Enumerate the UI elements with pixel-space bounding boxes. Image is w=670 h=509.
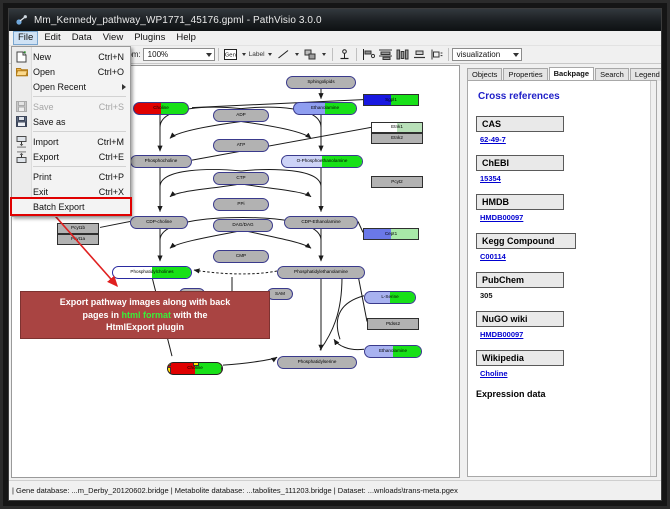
menu-data[interactable]: Data xyxy=(67,31,97,45)
xref-label-kegg: Kegg Compound xyxy=(476,233,576,249)
chevron-down-icon xyxy=(513,53,519,57)
callout-line-1: Export pathway images along with back xyxy=(60,296,231,309)
menu-view[interactable]: View xyxy=(98,31,128,45)
gene-pcyt2[interactable]: Pcyt2 xyxy=(371,176,423,188)
file-menu-dropdown[interactable]: New Ctrl+N Open Ctrl+O Open Recent Save xyxy=(11,46,131,217)
order-icon[interactable] xyxy=(429,47,444,62)
callout-line-2a: pages in xyxy=(82,310,121,320)
node-phosphocholine[interactable]: Phosphocholine xyxy=(130,155,192,168)
node-l-serine[interactable]: L-Serine xyxy=(364,291,416,304)
menu-item-import[interactable]: Import Ctrl+M xyxy=(12,134,130,149)
xref-value-chebi[interactable]: 15354 xyxy=(480,174,648,183)
menu-item-import-accel: Ctrl+M xyxy=(97,137,130,147)
gene-etnk2[interactable]: Etnk2 xyxy=(371,133,423,144)
menu-item-import-label: Import xyxy=(33,137,97,147)
node-o-phosphoethanolamine[interactable]: O-Phosphoethanolamine xyxy=(281,155,363,168)
status-text: | Gene database: ...m_Derby_20120602.bri… xyxy=(12,486,458,495)
screenshot-root: Mm_Kennedy_pathway_WP1771_45176.gpml - P… xyxy=(0,0,670,509)
folder-icon xyxy=(15,65,28,78)
xref-value-pubchem: 305 xyxy=(480,291,648,300)
svg-text:Gen: Gen xyxy=(225,53,237,59)
anchor-tool-button[interactable] xyxy=(337,47,352,62)
xref-label-wikipedia: Wikipedia xyxy=(476,350,564,366)
status-bar: | Gene database: ...m_Derby_20120602.bri… xyxy=(9,480,661,500)
menu-item-save: Save Ctrl+S xyxy=(12,99,130,114)
menu-help[interactable]: Help xyxy=(171,31,201,45)
toolbar-separator xyxy=(218,48,219,61)
menu-item-save-accel: Ctrl+S xyxy=(99,102,130,112)
callout-line-3: HtmlExport plugin xyxy=(60,321,231,334)
backpage-scrollbar[interactable] xyxy=(650,81,656,476)
node-choline-top[interactable]: Choline xyxy=(133,102,189,115)
node-choline-selected[interactable]: Choline xyxy=(167,362,223,375)
pathvisio-icon xyxy=(15,14,28,27)
submenu-arrow-icon xyxy=(122,84,126,90)
cross-references-heading: Cross references xyxy=(478,91,648,102)
callout-line-2: pages in html format with the xyxy=(60,309,231,322)
menu-item-save-as-label: Save as xyxy=(33,117,124,127)
menu-item-new[interactable]: New Ctrl+N xyxy=(12,49,130,64)
title-bar: Mm_Kennedy_pathway_WP1771_45176.gpml - P… xyxy=(9,9,661,31)
node-dag[interactable]: DAG/DAG xyxy=(213,219,273,232)
node-ethanolamine-top[interactable]: Ethanolamine xyxy=(293,102,357,115)
line-dropdown-icon[interactable] xyxy=(295,53,299,56)
menu-item-save-label: Save xyxy=(33,102,99,112)
xref-value-cas[interactable]: 62-49-7 xyxy=(480,135,648,144)
toolbar-separator xyxy=(448,48,449,61)
xref-value-hmdb[interactable]: HMDB00097 xyxy=(480,213,648,222)
new-file-icon xyxy=(15,50,28,63)
menu-item-print-label: Print xyxy=(33,172,99,182)
menu-item-save-as[interactable]: Save as xyxy=(12,114,130,129)
xref-label-chebi: ChEBI xyxy=(476,155,564,171)
menu-item-open-label: Open xyxy=(33,67,98,77)
import-icon xyxy=(15,135,28,148)
xref-value-nugo[interactable]: HMDB00097 xyxy=(480,330,648,339)
menu-item-new-label: New xyxy=(33,52,98,62)
menu-item-export[interactable]: Export Ctrl+E xyxy=(12,149,130,164)
menu-item-open-accel: Ctrl+O xyxy=(98,67,130,77)
menu-item-open-recent-label: Open Recent xyxy=(33,82,122,92)
selection-handle[interactable] xyxy=(167,367,171,373)
label-tool-button[interactable]: Label xyxy=(249,51,265,58)
menu-item-batch-export-label: Batch Export xyxy=(33,202,130,212)
window-title: Mm_Kennedy_pathway_WP1771_45176.gpml - P… xyxy=(34,15,322,26)
xref-label-nugo: NuGO wiki xyxy=(476,311,564,327)
side-panel-tabs: Objects Properties Backpage Search Legen… xyxy=(467,67,657,81)
expression-data-heading: Expression data xyxy=(476,389,648,399)
gene-etnk1[interactable]: Etnk1 xyxy=(371,122,423,133)
side-panel: Objects Properties Backpage Search Legen… xyxy=(461,65,659,478)
selection-handle[interactable] xyxy=(193,374,199,375)
menu-item-open[interactable]: Open Ctrl+O xyxy=(12,64,130,79)
datanode-tool-button[interactable]: Gen xyxy=(223,47,238,62)
menu-item-open-recent[interactable]: Open Recent xyxy=(12,79,130,94)
menu-bar: File Edit Data View Plugins Help xyxy=(9,31,661,46)
menu-item-print[interactable]: Print Ctrl+P xyxy=(12,169,130,184)
menu-edit[interactable]: Edit xyxy=(39,31,65,45)
menu-separator xyxy=(33,166,126,167)
node-adp[interactable]: ADP xyxy=(213,109,269,122)
save-as-icon xyxy=(15,115,28,128)
gene-sgpl1[interactable]: Sgpl1 xyxy=(363,94,419,106)
node-phosphatidylcholines[interactable]: Phosphatidylcholines xyxy=(112,266,192,279)
stack-icon[interactable] xyxy=(412,47,427,62)
menu-item-export-label: Export xyxy=(33,152,99,162)
menu-item-exit-label: Exit xyxy=(33,187,99,197)
menu-item-exit-accel: Ctrl+X xyxy=(99,187,130,197)
visualization-value: visualization xyxy=(455,50,501,59)
align-left-icon[interactable] xyxy=(361,47,376,62)
menu-item-print-accel: Ctrl+P xyxy=(99,172,130,182)
menu-plugins[interactable]: Plugins xyxy=(129,31,170,45)
xref-label-hmdb: HMDB xyxy=(476,194,564,210)
menu-item-new-accel: Ctrl+N xyxy=(98,52,130,62)
menu-separator xyxy=(33,131,126,132)
xref-value-wikipedia[interactable]: Choline xyxy=(480,369,648,378)
node-cdp-ethanolamine[interactable]: CDP-Ethanolamine xyxy=(284,216,358,229)
node-phosphatidylserine[interactable]: Phosphatidylserine xyxy=(277,356,357,369)
pathvisio-window: Mm_Kennedy_pathway_WP1771_45176.gpml - P… xyxy=(8,8,662,501)
line-tool-button[interactable] xyxy=(276,47,291,62)
menu-separator xyxy=(33,96,126,97)
node-atp[interactable]: ATP xyxy=(213,139,269,152)
shape-tool-button[interactable] xyxy=(303,47,318,62)
node-ppi[interactable]: PPi xyxy=(213,198,269,211)
node-ethanolamine-bottom[interactable]: Ethanolamine xyxy=(364,345,422,358)
save-icon xyxy=(15,100,28,113)
chevron-down-icon xyxy=(206,53,212,57)
zoom-value: 100% xyxy=(146,50,168,59)
menu-item-export-accel: Ctrl+E xyxy=(99,152,130,162)
menu-file[interactable]: File xyxy=(13,31,38,45)
xref-label-pubchem: PubChem xyxy=(476,272,564,288)
align-rows-icon[interactable] xyxy=(378,47,393,62)
callout-highlight: html format xyxy=(122,310,172,320)
visualization-combobox[interactable]: visualization xyxy=(452,48,522,61)
align-columns-icon[interactable] xyxy=(395,47,410,62)
selection-handle[interactable] xyxy=(167,362,171,366)
datanode-dropdown-icon[interactable] xyxy=(242,53,246,56)
gene-cept1[interactable]: Cept1 xyxy=(363,228,419,240)
gene-pcyt1b[interactable]: Pcyt1b xyxy=(57,223,99,234)
node-cmp[interactable]: CMP xyxy=(213,250,269,263)
backpage-content: Cross references CAS 62-49-7 ChEBI 15354… xyxy=(467,80,657,477)
xref-label-cas: CAS xyxy=(476,116,564,132)
menu-item-batch-export[interactable]: Batch Export xyxy=(12,199,130,214)
toolbar-separator xyxy=(356,48,357,61)
callout-line-2b: with the xyxy=(171,310,208,320)
selection-handle[interactable] xyxy=(193,362,199,366)
label-dropdown-icon[interactable] xyxy=(268,53,272,56)
shape-dropdown-icon[interactable] xyxy=(322,53,326,56)
toolbar-separator xyxy=(332,48,333,61)
node-ctp[interactable]: CTP xyxy=(213,172,269,185)
tab-backpage[interactable]: Backpage xyxy=(549,67,594,81)
xref-value-kegg[interactable]: C00114 xyxy=(480,252,648,261)
node-sam[interactable]: SAM xyxy=(267,288,293,300)
export-icon xyxy=(15,150,28,163)
zoom-combobox[interactable]: 100% xyxy=(143,48,215,61)
node-phosphatidylethanolamine[interactable]: Phosphatidylethanolamine xyxy=(277,266,365,279)
node-cdp-choline[interactable]: CDP-choline xyxy=(130,216,188,229)
callout-annotation: Export pathway images along with back pa… xyxy=(20,291,270,339)
menu-item-exit[interactable]: Exit Ctrl+X xyxy=(12,184,130,199)
node-sphingolipids[interactable]: Sphingolipids xyxy=(286,76,356,89)
gene-pcyt1a[interactable]: Pcyt1a xyxy=(57,234,99,245)
gene-ptdss2[interactable]: Ptdss2 xyxy=(367,318,419,330)
